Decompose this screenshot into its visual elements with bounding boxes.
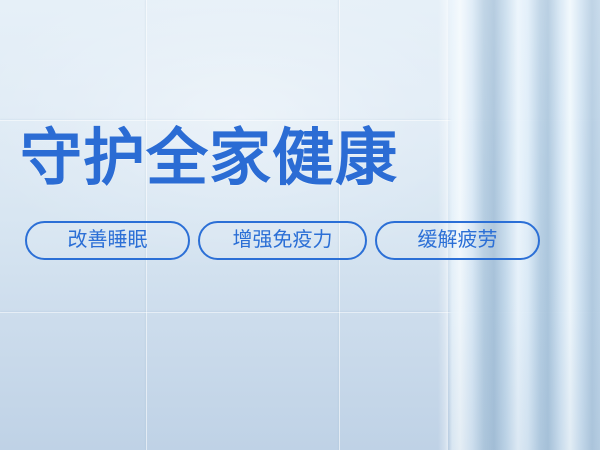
benefit-tag-boost-immunity[interactable]: 增强免疫力 [198, 221, 367, 260]
headline-text: 守护全家健康 [20, 124, 398, 194]
benefit-tag-row: 改善睡眠 增强免疫力 缓解疲劳 [25, 221, 540, 260]
benefit-tag-improve-sleep[interactable]: 改善睡眠 [25, 221, 190, 260]
banner-content: 守护全家健康 改善睡眠 增强免疫力 缓解疲劳 [0, 0, 600, 450]
benefit-tag-relieve-fatigue[interactable]: 缓解疲劳 [375, 221, 540, 260]
health-promo-banner: 守护全家健康 改善睡眠 增强免疫力 缓解疲劳 [0, 0, 600, 450]
